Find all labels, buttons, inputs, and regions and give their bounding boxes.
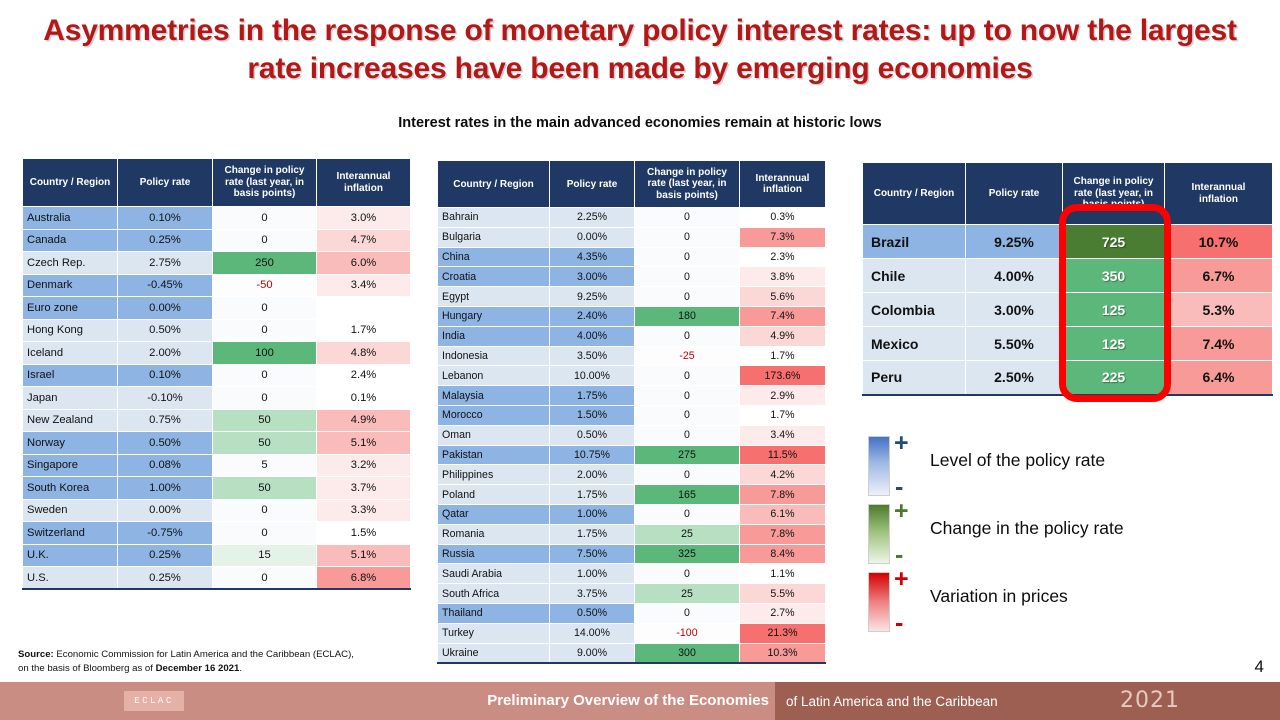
cell-change-basis-points: 0 <box>635 603 740 623</box>
cell-interannual-inflation: 0.1% <box>317 387 411 410</box>
cell-interannual-inflation: 6.4% <box>1165 361 1273 395</box>
cell-policy-rate: 7.50% <box>550 544 635 564</box>
page-subtitle: Interest rates in the main advanced econ… <box>0 115 1280 131</box>
table-row: Malaysia1.75%02.9% <box>438 386 826 406</box>
cell-interannual-inflation: 173.6% <box>740 366 826 386</box>
cell-policy-rate: 2.00% <box>118 342 213 365</box>
cell-country: Bulgaria <box>438 227 550 247</box>
table-row: South Africa3.75%255.5% <box>438 584 826 604</box>
cell-country: Sweden <box>23 499 118 522</box>
cell-country: Philippines <box>438 465 550 485</box>
cell-policy-rate: 10.00% <box>550 366 635 386</box>
cell-interannual-inflation: 3.4% <box>317 274 411 297</box>
cell-interannual-inflation: 4.2% <box>740 465 826 485</box>
cell-interannual-inflation: 7.8% <box>740 524 826 544</box>
cell-interannual-inflation: 5.3% <box>1165 293 1273 327</box>
cell-change-basis-points: 0 <box>635 326 740 346</box>
cell-change-basis-points: 0 <box>635 287 740 307</box>
legend-item-policy-rate-level: + - Level of the policy rate <box>868 432 1268 500</box>
table-row: U.K.0.25%155.1% <box>23 544 411 567</box>
cell-interannual-inflation: 5.5% <box>740 584 826 604</box>
cell-interannual-inflation: 4.7% <box>317 229 411 252</box>
cell-country: Morocco <box>438 405 550 425</box>
cell-interannual-inflation: 6.1% <box>740 504 826 524</box>
cell-country: Oman <box>438 425 550 445</box>
table-row: Czech Rep.2.75%2506.0% <box>23 252 411 275</box>
cell-change-basis-points: 725 <box>1063 225 1165 259</box>
cell-policy-rate: 14.00% <box>550 623 635 643</box>
table-body: Bahrain2.25%00.3%Bulgaria0.00%07.3%China… <box>438 208 826 663</box>
cell-country: India <box>438 326 550 346</box>
cell-interannual-inflation: 6.8% <box>317 567 411 590</box>
cell-country: South Korea <box>23 477 118 500</box>
cell-change-basis-points: 50 <box>213 409 317 432</box>
table-row: Egypt9.25%05.6% <box>438 287 826 307</box>
source-text-line2-post: . <box>239 663 242 674</box>
cell-country: Egypt <box>438 287 550 307</box>
cell-country: Australia <box>23 207 118 230</box>
cell-change-basis-points: 0 <box>213 297 317 320</box>
table-row: Indonesia3.50%-251.7% <box>438 346 826 366</box>
table-row: Mexico5.50%1257.4% <box>863 327 1273 361</box>
cell-policy-rate: 2.50% <box>966 361 1063 395</box>
table-row: Iceland2.00%1004.8% <box>23 342 411 365</box>
col-header-change: Change in policy rate (last year, in bas… <box>635 161 740 208</box>
cell-interannual-inflation: 5.1% <box>317 544 411 567</box>
page-title: Asymmetries in the response of monetary … <box>30 12 1250 89</box>
col-header-change: Change in policy rate (last year, in bas… <box>213 159 317 207</box>
table-row: Chile4.00%3506.7% <box>863 259 1273 293</box>
source-text-line2-pre: on the basis of Bloomberg as of <box>18 663 156 674</box>
cell-interannual-inflation: 4.9% <box>740 326 826 346</box>
table-row: Lebanon10.00%0173.6% <box>438 366 826 386</box>
table-row: Israel0.10%02.4% <box>23 364 411 387</box>
table-row: Bulgaria0.00%07.3% <box>438 227 826 247</box>
cell-change-basis-points: 0 <box>635 386 740 406</box>
cell-policy-rate: 2.40% <box>550 306 635 326</box>
cell-country: New Zealand <box>23 409 118 432</box>
cell-country: U.S. <box>23 567 118 590</box>
col-header-country: Country / Region <box>438 161 550 208</box>
cell-country: Hong Kong <box>23 319 118 342</box>
table-row: Morocco1.50%01.7% <box>438 405 826 425</box>
cell-country: Switzerland <box>23 522 118 545</box>
col-header-change: Change in policy rate (last year, in bas… <box>1063 163 1165 225</box>
cell-change-basis-points: 0 <box>635 425 740 445</box>
cell-country: Euro zone <box>23 297 118 320</box>
cell-policy-rate: 3.00% <box>550 267 635 287</box>
table-row: Oman0.50%03.4% <box>438 425 826 445</box>
cell-country: Pakistan <box>438 445 550 465</box>
plus-sign-icon: + <box>894 497 909 526</box>
plus-sign-icon: + <box>894 565 909 594</box>
cell-interannual-inflation: 7.4% <box>740 306 826 326</box>
cell-change-basis-points: 25 <box>635 524 740 544</box>
footer-title: Preliminary Overview of the Economies <box>399 692 769 709</box>
cell-interannual-inflation: 1.7% <box>740 405 826 425</box>
table-row: Philippines2.00%04.2% <box>438 465 826 485</box>
eclac-logo: ECLAC <box>124 691 184 711</box>
cell-country: Saudi Arabia <box>438 564 550 584</box>
cell-country: Lebanon <box>438 366 550 386</box>
cell-country: Poland <box>438 485 550 505</box>
cell-country: Turkey <box>438 623 550 643</box>
cell-change-basis-points: 0 <box>635 405 740 425</box>
cell-policy-rate: 0.25% <box>118 229 213 252</box>
table-row: Poland1.75%1657.8% <box>438 485 826 505</box>
cell-change-basis-points: 0 <box>635 504 740 524</box>
cell-country: Croatia <box>438 267 550 287</box>
table-row: India4.00%04.9% <box>438 326 826 346</box>
cell-interannual-inflation: 5.1% <box>317 432 411 455</box>
legend-item-policy-rate-change: + - Change in the policy rate <box>868 500 1268 568</box>
cell-policy-rate: 1.00% <box>118 477 213 500</box>
cell-interannual-inflation: 2.7% <box>740 603 826 623</box>
cell-policy-rate: 5.50% <box>966 327 1063 361</box>
cell-policy-rate: 1.00% <box>550 504 635 524</box>
table-row: China4.35%02.3% <box>438 247 826 267</box>
cell-policy-rate: 1.75% <box>550 386 635 406</box>
cell-change-basis-points: -50 <box>213 274 317 297</box>
col-header-inflation: Interannual inflation <box>1165 163 1273 225</box>
cell-policy-rate: 3.50% <box>550 346 635 366</box>
cell-policy-rate: 2.00% <box>550 465 635 485</box>
cell-change-basis-points: 0 <box>213 207 317 230</box>
cell-policy-rate: 4.00% <box>966 259 1063 293</box>
cell-policy-rate: 0.75% <box>118 409 213 432</box>
table-row: Colombia3.00%1255.3% <box>863 293 1273 327</box>
cell-policy-rate: 0.00% <box>118 297 213 320</box>
blue-gradient-scale-icon <box>868 436 890 496</box>
cell-interannual-inflation: 1.5% <box>317 522 411 545</box>
cell-change-basis-points: 225 <box>1063 361 1165 395</box>
legend-label: Level of the policy rate <box>930 450 1105 471</box>
cell-interannual-inflation: 21.3% <box>740 623 826 643</box>
cell-change-basis-points: 0 <box>213 364 317 387</box>
col-header-country: Country / Region <box>23 159 118 207</box>
cell-change-basis-points: 0 <box>635 465 740 485</box>
cell-country: Qatar <box>438 504 550 524</box>
cell-interannual-inflation: 3.8% <box>740 267 826 287</box>
cell-change-basis-points: 0 <box>213 387 317 410</box>
source-note: Source: Economic Commission for Latin Am… <box>18 648 448 676</box>
table-header-row: Country / Region Policy rate Change in p… <box>863 163 1273 225</box>
cell-interannual-inflation: 3.3% <box>317 499 411 522</box>
cell-change-basis-points: 15 <box>213 544 317 567</box>
cell-country: Iceland <box>23 342 118 365</box>
cell-change-basis-points: 125 <box>1063 293 1165 327</box>
table-row: Bahrain2.25%00.3% <box>438 208 826 228</box>
table-row: Thailand0.50%02.7% <box>438 603 826 623</box>
cell-change-basis-points: 325 <box>635 544 740 564</box>
cell-interannual-inflation: 0.3% <box>740 208 826 228</box>
cell-country: Ukraine <box>438 643 550 663</box>
cell-interannual-inflation: 3.0% <box>317 207 411 230</box>
legend-item-price-variation: + - Variation in prices <box>868 568 1268 636</box>
cell-change-basis-points: 250 <box>213 252 317 275</box>
cell-change-basis-points: 0 <box>635 267 740 287</box>
cell-interannual-inflation: 1.1% <box>740 564 826 584</box>
cell-interannual-inflation: 7.3% <box>740 227 826 247</box>
cell-change-basis-points: 0 <box>213 522 317 545</box>
cell-policy-rate: 0.25% <box>118 567 213 590</box>
table-row: Saudi Arabia1.00%01.1% <box>438 564 826 584</box>
cell-interannual-inflation: 5.6% <box>740 287 826 307</box>
table-body: Australia0.10%03.0%Canada0.25%04.7%Czech… <box>23 207 411 590</box>
cell-change-basis-points: 100 <box>213 342 317 365</box>
cell-country: Singapore <box>23 454 118 477</box>
cell-change-basis-points: 125 <box>1063 327 1165 361</box>
table-row: Russia7.50%3258.4% <box>438 544 826 564</box>
col-header-policy-rate: Policy rate <box>550 161 635 208</box>
table-row: Switzerland-0.75%01.5% <box>23 522 411 545</box>
cell-change-basis-points: 0 <box>213 499 317 522</box>
cell-interannual-inflation: 4.8% <box>317 342 411 365</box>
cell-policy-rate: 1.00% <box>550 564 635 584</box>
plus-sign-icon: + <box>894 429 909 458</box>
source-label: Source: <box>18 649 54 660</box>
table-row: Sweden0.00%03.3% <box>23 499 411 522</box>
cell-policy-rate: 2.25% <box>550 208 635 228</box>
cell-change-basis-points: 25 <box>635 584 740 604</box>
cell-policy-rate: 1.50% <box>550 405 635 425</box>
cell-interannual-inflation: 2.9% <box>740 386 826 406</box>
cell-change-basis-points: 0 <box>635 227 740 247</box>
legend: + - Level of the policy rate + - Change … <box>868 432 1268 636</box>
cell-policy-rate: -0.10% <box>118 387 213 410</box>
cell-policy-rate: 9.25% <box>966 225 1063 259</box>
source-text-line1: Economic Commission for Latin America an… <box>54 649 354 660</box>
cell-change-basis-points: 50 <box>213 432 317 455</box>
cell-policy-rate: 0.50% <box>550 603 635 623</box>
table-row: Peru2.50%2256.4% <box>863 361 1273 395</box>
col-header-inflation: Interannual inflation <box>740 161 826 208</box>
table-row: Turkey14.00%-10021.3% <box>438 623 826 643</box>
cell-interannual-inflation: 3.4% <box>740 425 826 445</box>
col-header-policy-rate: Policy rate <box>118 159 213 207</box>
col-header-country: Country / Region <box>863 163 966 225</box>
table-row: Qatar1.00%06.1% <box>438 504 826 524</box>
footer-year: 2021 <box>1120 688 1180 713</box>
cell-country: Peru <box>863 361 966 395</box>
cell-interannual-inflation: 10.7% <box>1165 225 1273 259</box>
cell-policy-rate: 10.75% <box>550 445 635 465</box>
table-header-row: Country / Region Policy rate Change in p… <box>438 161 826 208</box>
cell-policy-rate: 1.75% <box>550 524 635 544</box>
cell-interannual-inflation <box>317 297 411 320</box>
cell-policy-rate: 4.35% <box>550 247 635 267</box>
cell-country: Russia <box>438 544 550 564</box>
cell-change-basis-points: 0 <box>635 366 740 386</box>
cell-interannual-inflation: 7.4% <box>1165 327 1273 361</box>
cell-interannual-inflation: 1.7% <box>317 319 411 342</box>
cell-country: U.K. <box>23 544 118 567</box>
cell-country: China <box>438 247 550 267</box>
page-number: 4 <box>1255 657 1264 677</box>
cell-country: Japan <box>23 387 118 410</box>
cell-change-basis-points: 50 <box>213 477 317 500</box>
cell-policy-rate: 3.75% <box>550 584 635 604</box>
cell-country: Chile <box>863 259 966 293</box>
cell-change-basis-points: 165 <box>635 485 740 505</box>
table-body: Brazil9.25%72510.7%Chile4.00%3506.7%Colo… <box>863 225 1273 395</box>
cell-country: Israel <box>23 364 118 387</box>
cell-change-basis-points: -25 <box>635 346 740 366</box>
cell-country: Colombia <box>863 293 966 327</box>
cell-policy-rate: 2.75% <box>118 252 213 275</box>
cell-policy-rate: 0.08% <box>118 454 213 477</box>
legend-label: Change in the policy rate <box>930 518 1124 539</box>
cell-interannual-inflation: 6.7% <box>1165 259 1273 293</box>
cell-change-basis-points: 300 <box>635 643 740 663</box>
cell-country: Czech Rep. <box>23 252 118 275</box>
cell-country: South Africa <box>438 584 550 604</box>
cell-change-basis-points: 0 <box>635 247 740 267</box>
cell-change-basis-points: 5 <box>213 454 317 477</box>
cell-policy-rate: 3.00% <box>966 293 1063 327</box>
cell-change-basis-points: 0 <box>213 319 317 342</box>
table-row: Brazil9.25%72510.7% <box>863 225 1273 259</box>
cell-country: Canada <box>23 229 118 252</box>
cell-country: Denmark <box>23 274 118 297</box>
cell-change-basis-points: 275 <box>635 445 740 465</box>
table-row: New Zealand0.75%504.9% <box>23 409 411 432</box>
cell-interannual-inflation: 3.2% <box>317 454 411 477</box>
cell-change-basis-points: 0 <box>635 208 740 228</box>
cell-change-basis-points: 0 <box>213 229 317 252</box>
cell-change-basis-points: 0 <box>213 567 317 590</box>
col-header-inflation: Interannual inflation <box>317 159 411 207</box>
cell-change-basis-points: -100 <box>635 623 740 643</box>
footer-subtitle: of Latin America and the Caribbean <box>786 694 998 709</box>
cell-interannual-inflation: 4.9% <box>317 409 411 432</box>
legend-label: Variation in prices <box>930 586 1068 607</box>
cell-interannual-inflation: 10.3% <box>740 643 826 663</box>
cell-interannual-inflation: 7.8% <box>740 485 826 505</box>
cell-policy-rate: 0.10% <box>118 364 213 387</box>
minus-sign-icon: - <box>895 609 903 638</box>
table-row: Japan-0.10%00.1% <box>23 387 411 410</box>
table-latin-america: Country / Region Policy rate Change in p… <box>862 162 1273 396</box>
slide: Asymmetries in the response of monetary … <box>0 0 1280 720</box>
col-header-policy-rate: Policy rate <box>966 163 1063 225</box>
table-row: Australia0.10%03.0% <box>23 207 411 230</box>
cell-country: Indonesia <box>438 346 550 366</box>
cell-interannual-inflation: 8.4% <box>740 544 826 564</box>
green-gradient-scale-icon <box>868 504 890 564</box>
cell-policy-rate: 0.00% <box>118 499 213 522</box>
cell-interannual-inflation: 1.7% <box>740 346 826 366</box>
cell-policy-rate: 9.25% <box>550 287 635 307</box>
table-row: Ukraine9.00%30010.3% <box>438 643 826 663</box>
cell-policy-rate: 0.50% <box>118 432 213 455</box>
source-date: December 16 2021 <box>156 663 240 674</box>
cell-country: Romania <box>438 524 550 544</box>
table-row: Euro zone0.00%0 <box>23 297 411 320</box>
table-row: Denmark-0.45%-503.4% <box>23 274 411 297</box>
table-row: Canada0.25%04.7% <box>23 229 411 252</box>
cell-policy-rate: 9.00% <box>550 643 635 663</box>
table-advanced-economies: Country / Region Policy rate Change in p… <box>22 158 411 590</box>
cell-country: Brazil <box>863 225 966 259</box>
table-row: Hong Kong0.50%01.7% <box>23 319 411 342</box>
footer: ECLAC Preliminary Overview of the Econom… <box>0 682 1280 720</box>
table-row: Pakistan10.75%27511.5% <box>438 445 826 465</box>
cell-interannual-inflation: 2.4% <box>317 364 411 387</box>
table-row: South Korea1.00%503.7% <box>23 477 411 500</box>
cell-change-basis-points: 350 <box>1063 259 1165 293</box>
cell-interannual-inflation: 11.5% <box>740 445 826 465</box>
table-row: Croatia3.00%03.8% <box>438 267 826 287</box>
cell-policy-rate: -0.45% <box>118 274 213 297</box>
cell-policy-rate: 0.10% <box>118 207 213 230</box>
table-header-row: Country / Region Policy rate Change in p… <box>23 159 411 207</box>
cell-policy-rate: 0.50% <box>550 425 635 445</box>
cell-country: Thailand <box>438 603 550 623</box>
cell-interannual-inflation: 2.3% <box>740 247 826 267</box>
table-row: U.S.0.25%06.8% <box>23 567 411 590</box>
cell-policy-rate: 0.00% <box>550 227 635 247</box>
table-row: Norway0.50%505.1% <box>23 432 411 455</box>
table-emerging-economies: Country / Region Policy rate Change in p… <box>437 160 826 664</box>
cell-policy-rate: 4.00% <box>550 326 635 346</box>
cell-policy-rate: -0.75% <box>118 522 213 545</box>
cell-interannual-inflation: 3.7% <box>317 477 411 500</box>
cell-country: Mexico <box>863 327 966 361</box>
table-row: Romania1.75%257.8% <box>438 524 826 544</box>
cell-country: Bahrain <box>438 208 550 228</box>
table-row: Hungary2.40%1807.4% <box>438 306 826 326</box>
cell-country: Malaysia <box>438 386 550 406</box>
cell-interannual-inflation: 6.0% <box>317 252 411 275</box>
cell-policy-rate: 1.75% <box>550 485 635 505</box>
cell-change-basis-points: 180 <box>635 306 740 326</box>
cell-country: Norway <box>23 432 118 455</box>
table-row: Singapore0.08%53.2% <box>23 454 411 477</box>
cell-change-basis-points: 0 <box>635 564 740 584</box>
cell-country: Hungary <box>438 306 550 326</box>
cell-policy-rate: 0.50% <box>118 319 213 342</box>
cell-policy-rate: 0.25% <box>118 544 213 567</box>
red-gradient-scale-icon <box>868 572 890 632</box>
